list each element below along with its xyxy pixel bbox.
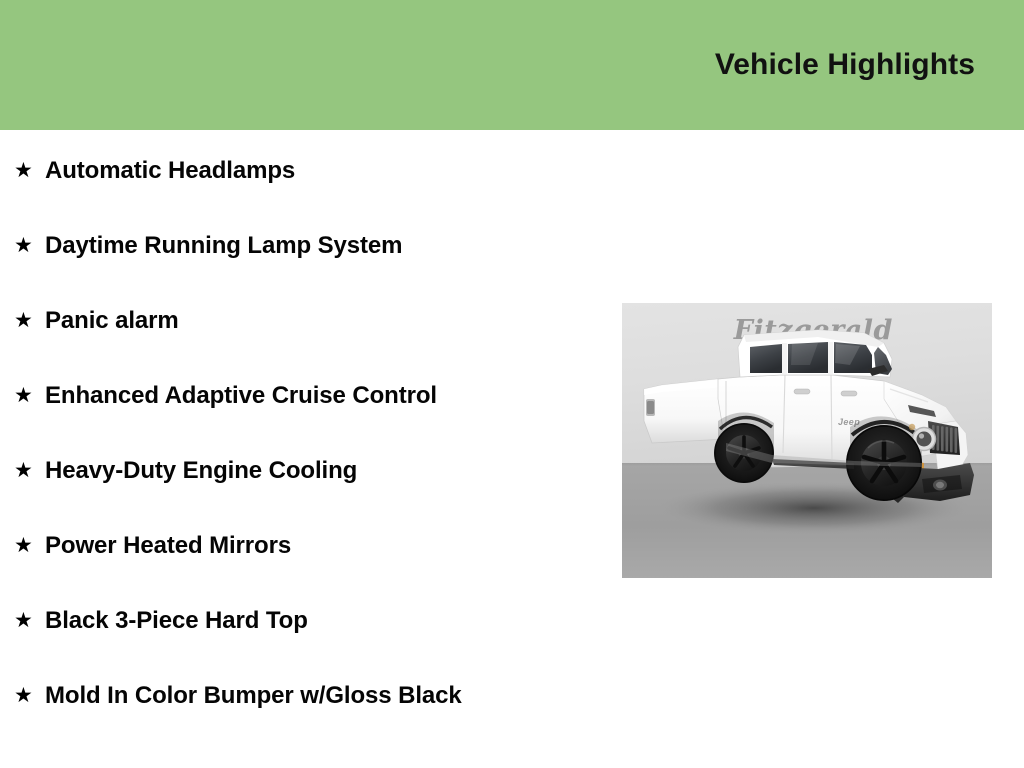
highlight-label: Power Heated Mirrors <box>45 505 600 561</box>
star-bullet-icon: ★ <box>14 580 45 637</box>
highlight-label: Automatic Headlamps <box>45 130 600 186</box>
star-bullet-icon: ★ <box>14 130 45 187</box>
star-bullet-icon: ★ <box>14 205 45 262</box>
list-item: ★ Enhanced Adaptive Cruise Control <box>0 355 600 430</box>
star-bullet-icon: ★ <box>14 505 45 562</box>
highlight-label: Heavy-Duty Engine Cooling <box>45 430 600 486</box>
page-title: Vehicle Highlights <box>715 48 975 82</box>
star-bullet-icon: ★ <box>14 280 45 337</box>
header-banner: Vehicle Highlights <box>0 0 1024 130</box>
star-bullet-icon: ★ <box>14 655 45 712</box>
vehicle-highlights-list: ★ Automatic Headlamps ★ Daytime Running … <box>0 130 600 750</box>
list-item: ★ Heavy-Duty Engine Cooling <box>0 430 600 505</box>
vehicle-photo: Fitzgerald AUTO MALLS <box>622 303 992 578</box>
list-item: ★ Panic alarm <box>0 280 600 355</box>
highlight-label: Black 3-Piece Hard Top <box>45 580 600 636</box>
highlight-label: Daytime Running Lamp System <box>45 205 600 261</box>
highlight-label: Enhanced Adaptive Cruise Control <box>45 355 600 411</box>
jeep-gladiator-illustration: Jeep <box>622 303 992 578</box>
list-item: ★ Daytime Running Lamp System <box>0 205 600 280</box>
list-item: ★ Mold In Color Bumper w/Gloss Black <box>0 655 600 750</box>
star-bullet-icon: ★ <box>14 430 45 487</box>
list-item: ★ Black 3-Piece Hard Top <box>0 580 600 655</box>
highlight-label: Panic alarm <box>45 280 600 336</box>
list-item: ★ Automatic Headlamps <box>0 130 600 205</box>
star-bullet-icon: ★ <box>14 355 45 412</box>
highlight-label: Mold In Color Bumper w/Gloss Black <box>45 655 490 711</box>
list-item: ★ Power Heated Mirrors <box>0 505 600 580</box>
